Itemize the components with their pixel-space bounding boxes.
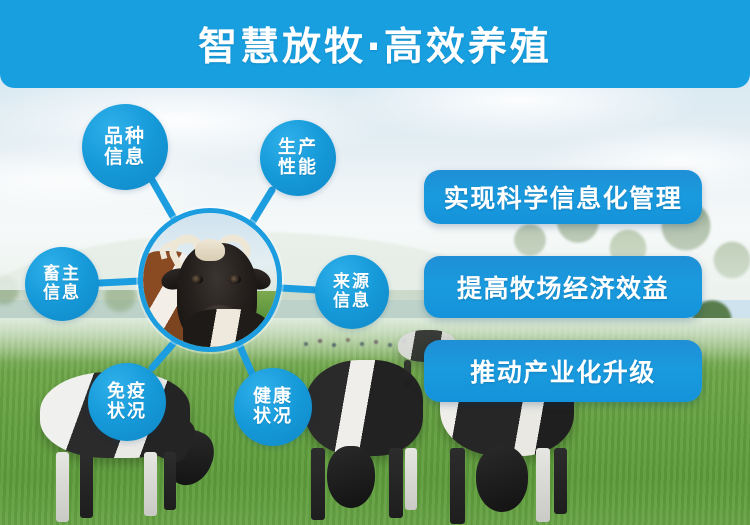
hub-bubble-health-status[interactable]: 健康 状况 <box>234 368 312 446</box>
hub-bubble-owner-info[interactable]: 畜主 信息 <box>25 247 99 321</box>
hub-bubble-production-perf[interactable]: 生产 性能 <box>260 120 336 196</box>
hub-bubble-owner-info-line1: 畜主 <box>43 265 81 284</box>
hub-bubble-source-info-line1: 来源 <box>333 273 371 292</box>
panel-farm-economics-label: 提高牧场经济效益 <box>457 269 669 305</box>
hub-bubble-immunity-status-line1: 免疫 <box>107 382 147 402</box>
photo-cow-chest <box>183 309 269 347</box>
connector-owner-info <box>100 281 140 283</box>
hub-bubble-owner-info-line2: 信息 <box>43 284 81 303</box>
panel-farm-economics[interactable]: 提高牧场经济效益 <box>424 256 702 318</box>
poster-canvas: 智慧放牧·高效养殖 <box>0 0 750 525</box>
hub-bubble-health-status-line1: 健康 <box>253 387 293 407</box>
connector-source-info <box>281 288 316 290</box>
page-title: 智慧放牧·高效养殖 <box>198 16 552 72</box>
photo-cow-forelock <box>195 239 225 261</box>
hub-bubble-immunity-status-line2: 状况 <box>107 402 147 422</box>
hub-bubble-immunity-status[interactable]: 免疫 状况 <box>88 363 166 441</box>
hub-bubble-breed-info[interactable]: 品种 信息 <box>82 104 168 190</box>
panel-industrial-upgrade-label: 推动产业化升级 <box>470 353 656 389</box>
hub-bubble-production-perf-line2: 性能 <box>278 158 318 178</box>
photo-cow-eye-left <box>191 275 203 284</box>
hub-bubble-source-info[interactable]: 来源 信息 <box>315 255 389 329</box>
header-banner: 智慧放牧·高效养殖 <box>0 0 750 88</box>
connector-health-status <box>239 344 253 376</box>
hub-bubble-breed-info-line2: 信息 <box>104 147 146 168</box>
panel-industrial-upgrade[interactable]: 推动产业化升级 <box>424 340 702 402</box>
hub-bubble-source-info-line2: 信息 <box>333 292 371 311</box>
cow-photo <box>143 213 277 347</box>
panel-scientific-management[interactable]: 实现科学信息化管理 <box>424 170 702 224</box>
panel-scientific-management-label: 实现科学信息化管理 <box>444 179 683 215</box>
hub-bubble-production-perf-line1: 生产 <box>278 138 318 158</box>
hub-bubble-breed-info-line1: 品种 <box>104 126 146 147</box>
hub-bubble-health-status-line2: 状况 <box>253 407 293 427</box>
photo-cow-eye-right <box>229 275 241 284</box>
center-cow-circle <box>138 208 282 352</box>
